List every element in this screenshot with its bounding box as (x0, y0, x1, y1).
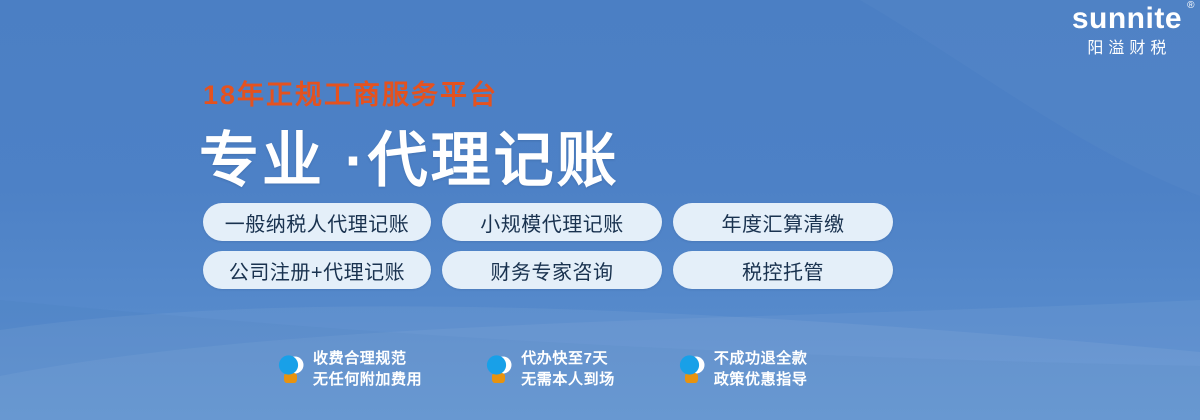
feature-item: 代办快至7天 无需本人到场 (484, 349, 615, 389)
lightbulb-icon (484, 349, 512, 389)
logo-subtitle: 阳溢财税 (1072, 41, 1182, 57)
service-pill-grid: 一般纳税人代理记账 小规模代理记账 年度汇算清缴 公司注册+代理记账 财务专家咨… (203, 203, 893, 289)
service-pill[interactable]: 税控托管 (673, 251, 893, 289)
feature-list: 收费合理规范 无任何附加费用 代办快至7天 无需本人到场 (276, 349, 807, 389)
service-pill[interactable]: 年度汇算清缴 (673, 203, 893, 241)
feature-text: 收费合理规范 无任何附加费用 (313, 351, 422, 388)
lightbulb-icon (276, 349, 304, 389)
logo-wordmark-text: sunnite (1072, 2, 1182, 35)
service-pill[interactable]: 小规模代理记账 (442, 203, 662, 241)
feature-line-2: 政策优惠指导 (714, 372, 808, 388)
registered-trademark-icon: ® (1187, 1, 1195, 11)
service-pill[interactable]: 公司注册+代理记账 (203, 251, 431, 289)
service-pill[interactable]: 财务专家咨询 (442, 251, 662, 289)
feature-line-1: 不成功退全款 (714, 351, 808, 367)
feature-item: 不成功退全款 政策优惠指导 (677, 349, 808, 389)
logo-wordmark: sunnite ® (1072, 4, 1182, 34)
hero-headline: 专业 ·代理记账 (199, 112, 620, 199)
feature-line-2: 无需本人到场 (521, 372, 615, 388)
hero-kicker: 18年正规工商服务平台 (203, 73, 498, 112)
feature-text: 代办快至7天 无需本人到场 (521, 351, 615, 388)
feature-item: 收费合理规范 无任何附加费用 (276, 349, 422, 389)
service-pill[interactable]: 一般纳税人代理记账 (203, 203, 431, 241)
feature-line-2: 无任何附加费用 (313, 372, 422, 388)
lightbulb-icon (677, 349, 705, 389)
feature-line-1: 代办快至7天 (521, 351, 615, 367)
promo-banner: sunnite ® 阳溢财税 18年正规工商服务平台 专业 ·代理记账 一般纳税… (0, 0, 1200, 420)
feature-line-1: 收费合理规范 (313, 351, 422, 367)
feature-text: 不成功退全款 政策优惠指导 (714, 351, 808, 388)
brand-logo[interactable]: sunnite ® 阳溢财税 (1072, 4, 1182, 57)
